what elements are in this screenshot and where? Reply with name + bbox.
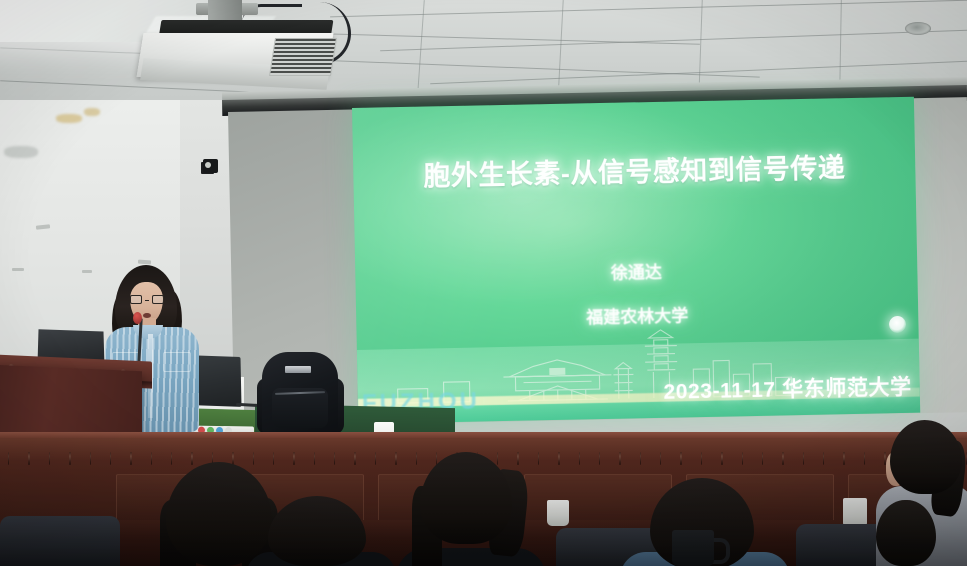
chair-back — [0, 516, 120, 566]
projector-vent-grille — [269, 38, 337, 76]
glasses-lens — [130, 295, 142, 304]
desk-stud — [558, 452, 559, 465]
desk-stud — [110, 452, 111, 465]
desk-stud — [334, 452, 335, 465]
desk-stud — [90, 452, 91, 465]
glasses-icon — [130, 295, 164, 303]
desk-stud — [191, 452, 192, 465]
audience-member-6 — [876, 500, 936, 566]
wall-camera-icon — [203, 159, 218, 173]
desk-stud — [762, 452, 763, 465]
desk-stud — [49, 452, 50, 465]
desk-stud — [843, 452, 844, 465]
desk-stud — [701, 452, 702, 465]
desk-stud — [8, 452, 9, 465]
glasses-bridge — [145, 300, 148, 301]
desk-stud — [354, 452, 355, 465]
desk-stud — [314, 452, 315, 465]
desk-stud — [742, 452, 743, 465]
backpack-logo — [285, 366, 311, 373]
desk-stud — [579, 452, 580, 465]
desk-stud — [538, 452, 539, 465]
desk-stud — [395, 452, 396, 465]
desk-stud — [680, 452, 681, 465]
desk-stud — [130, 452, 131, 465]
desk-stud — [517, 452, 518, 465]
glasses-lens — [152, 295, 164, 304]
desk-stud — [660, 452, 661, 465]
ceiling-speaker-icon — [905, 22, 931, 35]
mug-handle — [712, 538, 730, 564]
projected-slide: FUZHOU 胞外生长素-从信号感知到信号传递 徐通达 福建农林大学 2023-… — [352, 97, 920, 424]
desk-stud — [599, 452, 600, 465]
desk-stud — [416, 452, 417, 465]
lecture-hall-photo: FUZHOU 胞外生长素-从信号感知到信号传递 徐通达 福建农林大学 2023-… — [0, 0, 967, 566]
desk-stud — [497, 452, 498, 465]
paper-cup — [547, 500, 569, 526]
desk-stud — [375, 452, 376, 465]
wall-stain — [4, 146, 38, 158]
desk-stud — [273, 452, 274, 465]
desk-stud — [293, 452, 294, 465]
presenter-shirt-pocket — [163, 352, 191, 372]
desk-stud — [28, 452, 29, 465]
desk-stud — [619, 452, 620, 465]
desk-stud — [823, 452, 824, 465]
lens-flare — [889, 316, 906, 333]
desk-stud — [151, 452, 152, 465]
desk-stud — [782, 452, 783, 465]
microphone-icon — [133, 312, 142, 324]
desk-stud — [171, 452, 172, 465]
desk-stud — [864, 452, 865, 465]
desk-stud — [640, 452, 641, 465]
dark-mug — [672, 530, 714, 566]
desk-stud — [69, 452, 70, 465]
desk-stud — [253, 452, 254, 465]
desk-stud — [803, 452, 804, 465]
desk-stud — [721, 452, 722, 465]
